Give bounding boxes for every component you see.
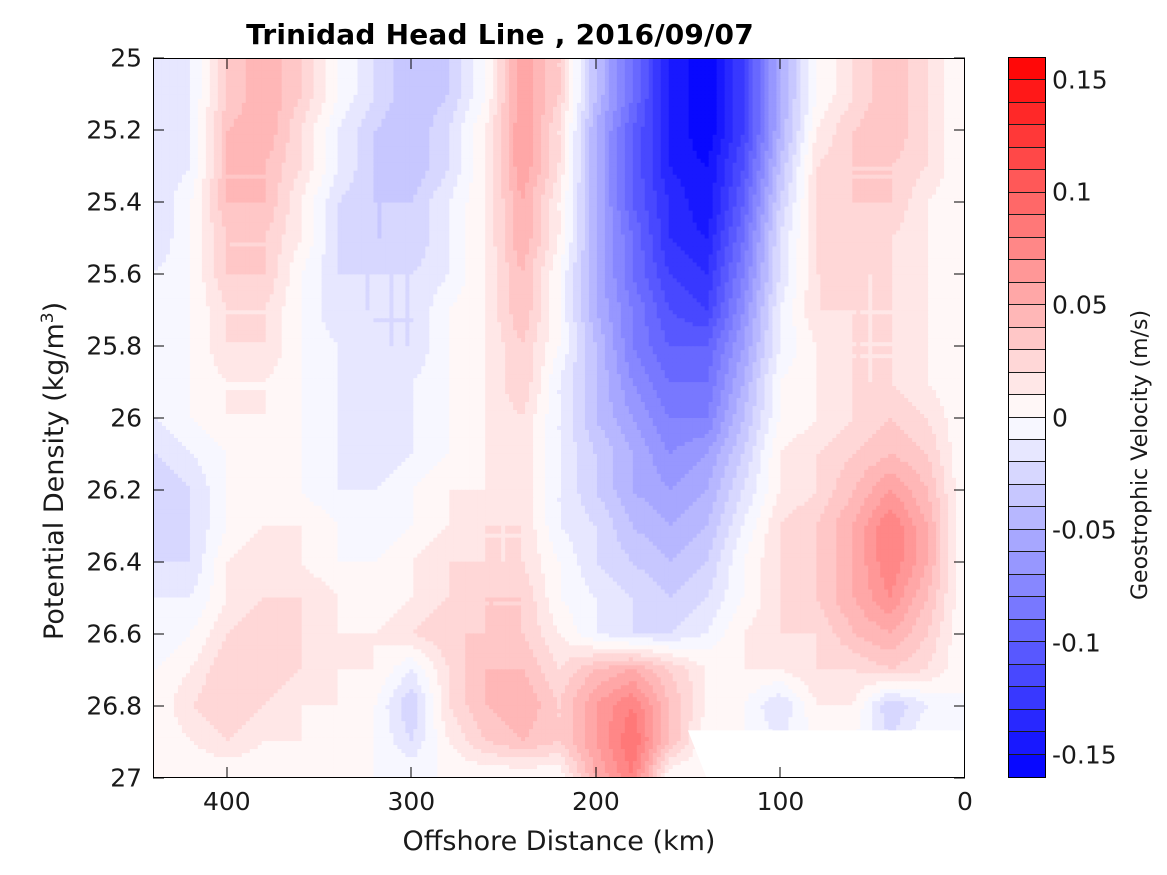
colorbar-band: [1009, 732, 1045, 754]
y-tick-label: 26.6: [86, 620, 142, 649]
x-tick-mark-top: [780, 58, 781, 69]
y-tick-mark: [153, 562, 164, 563]
colorbar-band: [1009, 328, 1045, 350]
x-tick-mark-top: [595, 58, 596, 69]
y-tick-label: 26.8: [86, 692, 142, 721]
x-tick-mark-top: [226, 58, 227, 69]
colorbar-band: [1009, 710, 1045, 732]
y-tick-label: 26.2: [86, 476, 142, 505]
y-tick-mark: [153, 778, 164, 779]
y-tick-mark-right: [954, 202, 965, 203]
y-tick-label: 27: [110, 764, 142, 793]
y-tick-mark: [153, 202, 164, 203]
x-tick-mark: [226, 767, 227, 778]
colorbar-tick-label: -0.05: [1052, 516, 1117, 545]
colorbar-band: [1009, 283, 1045, 305]
colorbar-band: [1009, 485, 1045, 507]
y-tick-mark-right: [954, 562, 965, 563]
y-tick-label: 26: [110, 404, 142, 433]
y-axis-title: Potential Density (kg/m3): [38, 302, 70, 640]
colorbar-band: [1009, 507, 1045, 529]
colorbar-band: [1009, 755, 1045, 777]
colorbar-band: [1009, 373, 1045, 395]
colorbar-tick-label: 0.15: [1052, 65, 1108, 94]
colorbar-band: [1009, 103, 1045, 125]
colorbar-tick-label: 0.05: [1052, 290, 1108, 319]
contour-field: [154, 59, 964, 777]
y-axis-title-tail: ): [39, 302, 70, 313]
y-tick-label: 25.4: [86, 188, 142, 217]
colorbar-band: [1009, 687, 1045, 709]
colorbar[interactable]: [1008, 57, 1046, 778]
y-tick-label: 26.4: [86, 548, 142, 577]
colorbar-tick-label: 0: [1052, 403, 1068, 432]
plot-area[interactable]: [153, 58, 965, 778]
y-tick-mark-right: [954, 346, 965, 347]
y-tick-mark: [153, 418, 164, 419]
y-tick-mark: [153, 274, 164, 275]
x-axis-title: Offshore Distance (km): [153, 826, 965, 857]
colorbar-band: [1009, 170, 1045, 192]
colorbar-band: [1009, 665, 1045, 687]
colorbar-band: [1009, 462, 1045, 484]
x-tick-label: 100: [757, 787, 805, 816]
x-tick-mark: [780, 767, 781, 778]
colorbar-tick-label: -0.15: [1052, 741, 1117, 770]
x-tick-label: 400: [203, 787, 251, 816]
y-tick-mark: [153, 346, 164, 347]
chart-title: Trinidad Head Line , 2016/09/07: [0, 18, 1000, 51]
colorbar-band: [1009, 530, 1045, 552]
y-tick-mark: [153, 58, 164, 59]
figure-root: Trinidad Head Line , 2016/09/07 2525.225…: [0, 0, 1167, 875]
y-axis-title-main: Potential Density (kg/m: [39, 323, 70, 640]
y-tick-mark: [153, 490, 164, 491]
colorbar-tick-label: -0.1: [1052, 628, 1101, 657]
colorbar-band: [1009, 575, 1045, 597]
colorbar-band: [1009, 260, 1045, 282]
colorbar-band: [1009, 418, 1045, 440]
colorbar-band: [1009, 148, 1045, 170]
y-tick-mark: [153, 130, 164, 131]
y-tick-label: 25.8: [86, 332, 142, 361]
y-tick-mark-right: [954, 274, 965, 275]
colorbar-band: [1009, 395, 1045, 417]
y-tick-mark: [153, 706, 164, 707]
x-tick-mark: [411, 767, 412, 778]
y-tick-mark: [153, 634, 164, 635]
colorbar-band: [1009, 597, 1045, 619]
y-axis-title-exponent: 3: [38, 312, 58, 323]
colorbar-title: Geostrophic Velocity (m/s): [1128, 310, 1153, 600]
x-tick-label: 300: [388, 787, 436, 816]
colorbar-band: [1009, 620, 1045, 642]
colorbar-band: [1009, 238, 1045, 260]
y-tick-mark-right: [954, 490, 965, 491]
colorbar-band: [1009, 642, 1045, 664]
y-tick-mark-right: [954, 706, 965, 707]
colorbar-band: [1009, 193, 1045, 215]
colorbar-band: [1009, 440, 1045, 462]
y-tick-mark-right: [954, 418, 965, 419]
colorbar-band: [1009, 552, 1045, 574]
x-tick-mark-top: [411, 58, 412, 69]
colorbar-band: [1009, 125, 1045, 147]
y-tick-label: 25: [110, 44, 142, 73]
colorbar-band: [1009, 215, 1045, 237]
y-axis-tick-labels: 2525.225.425.625.82626.226.426.626.827: [0, 0, 142, 875]
y-tick-mark-right: [954, 778, 965, 779]
colorbar-band: [1009, 58, 1045, 80]
y-tick-mark-right: [954, 130, 965, 131]
x-tick-label: 200: [572, 787, 620, 816]
colorbar-band: [1009, 80, 1045, 102]
colorbar-band: [1009, 305, 1045, 327]
x-tick-mark: [595, 767, 596, 778]
x-tick-label: 0: [957, 787, 973, 816]
y-tick-mark-right: [954, 58, 965, 59]
y-tick-label: 25.2: [86, 116, 142, 145]
colorbar-band: [1009, 350, 1045, 372]
y-tick-mark-right: [954, 634, 965, 635]
y-tick-label: 25.6: [86, 260, 142, 289]
colorbar-tick-label: 0.1: [1052, 178, 1092, 207]
